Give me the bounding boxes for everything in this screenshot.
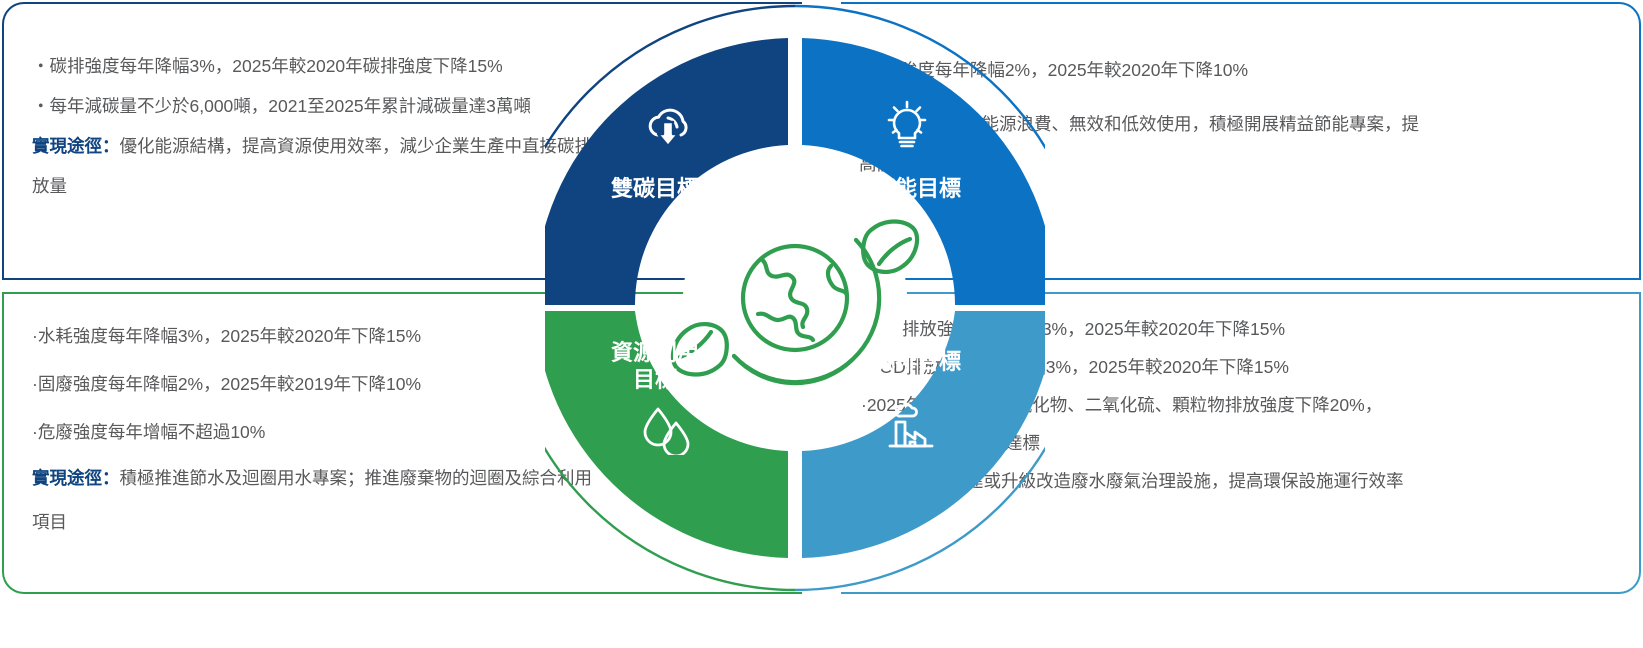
lightbulb-icon (880, 98, 934, 159)
carbon-approach: 實現途徑：優化能源結構，提高資源使用效率，減少企業生產中直接碳排放量 (32, 126, 602, 206)
factory-icon (882, 398, 938, 459)
label-resource-goal[interactable]: 資源利用 目標 (580, 339, 730, 393)
label-energy-goal[interactable]: 節能目標 (842, 175, 992, 202)
label-carbon-goal[interactable]: 雙碳目標 (580, 175, 730, 202)
emission-approach-label: 實現途徑： (861, 471, 949, 491)
esg-goals-infographic: ・碳排強度每年降幅3%，2025年較2020年碳排強度下降15% ・每年減碳量不… (0, 0, 1643, 596)
energy-goal-content: ·能耗強度每年降幅2%，2025年較2020年下降10% 實現途徑：避免能源浪費… (841, 4, 1639, 278)
resource-approach: 實現途徑：積極推進節水及迴圈用水專案；推進廢棄物的迴圈及綜合利用項目 (32, 456, 592, 544)
emission-approach-text: 新建或升級改造廢水廢氣治理設施，提高環保設施運行效率 (949, 471, 1404, 491)
carbon-approach-label: 實現途徑： (32, 136, 120, 156)
emission-bullet-3: ·2025年較2020年氮氧化物、二氧化硫、顆粒物排放強度下降20%，VOCs年… (861, 386, 1426, 462)
energy-bullet-1: ·能耗強度每年降幅2%，2025年較2020年下降10% (859, 50, 1601, 90)
resource-approach-label: 實現途徑： (32, 468, 120, 488)
cloud-carbon-down-icon (640, 102, 696, 155)
emission-approach: 實現途徑：新建或升級改造廢水廢氣治理設施，提高環保設施運行效率 (861, 462, 1426, 500)
emission-bullet-1: ·污水排放強度每年降幅3%，2025年較2020年下降15% (861, 310, 1601, 348)
carbon-bullet-1: ・碳排強度每年降幅3%，2025年較2020年碳排強度下降15% (32, 46, 764, 86)
label-emission-goal[interactable]: 減排目標 (842, 348, 992, 375)
down-arrow-glyph (658, 122, 678, 146)
energy-approach: 實現途徑：避免能源浪費、無效和低效使用，積極開展精益節能專案，提高能源效率 (859, 104, 1419, 184)
emission-goal-panel: ·污水排放強度每年降幅3%，2025年較2020年下降15% ·COD排放強度每… (841, 292, 1641, 594)
emission-goal-content: ·污水排放強度每年降幅3%，2025年較2020年下降15% ·COD排放強度每… (841, 294, 1639, 592)
water-drops-icon (638, 405, 696, 460)
spacer (859, 90, 1601, 104)
energy-goal-panel: ·能耗強度每年降幅2%，2025年較2020年下降10% 實現途徑：避免能源浪費… (841, 2, 1641, 280)
